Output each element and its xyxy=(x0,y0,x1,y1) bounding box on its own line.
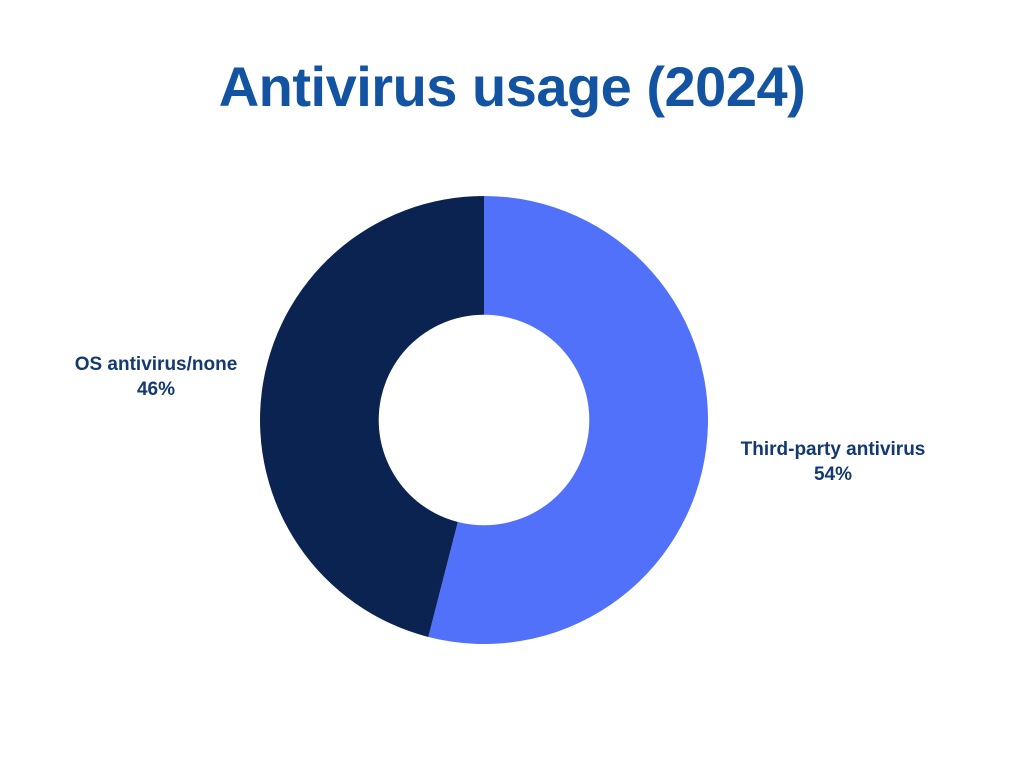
donut-chart-figure: Antivirus usage (2024) OS antivirus/none… xyxy=(0,0,1024,768)
slice-label-third-party-antivirus: Third-party antivirus 54% xyxy=(713,437,953,487)
donut-chart-graphic xyxy=(260,196,708,644)
slice-label-third-party-antivirus-name: Third-party antivirus xyxy=(741,439,926,460)
slice-label-os-antivirus-none-name: OS antivirus/none xyxy=(75,354,238,375)
donut-svg xyxy=(260,196,708,644)
slice-label-os-antivirus-none-value: 46% xyxy=(36,377,276,402)
chart-title: Antivirus usage (2024) xyxy=(0,56,1024,118)
donut-center-hole xyxy=(379,315,590,526)
slice-label-third-party-antivirus-value: 54% xyxy=(713,462,953,487)
slice-label-os-antivirus-none: OS antivirus/none 46% xyxy=(36,352,276,402)
